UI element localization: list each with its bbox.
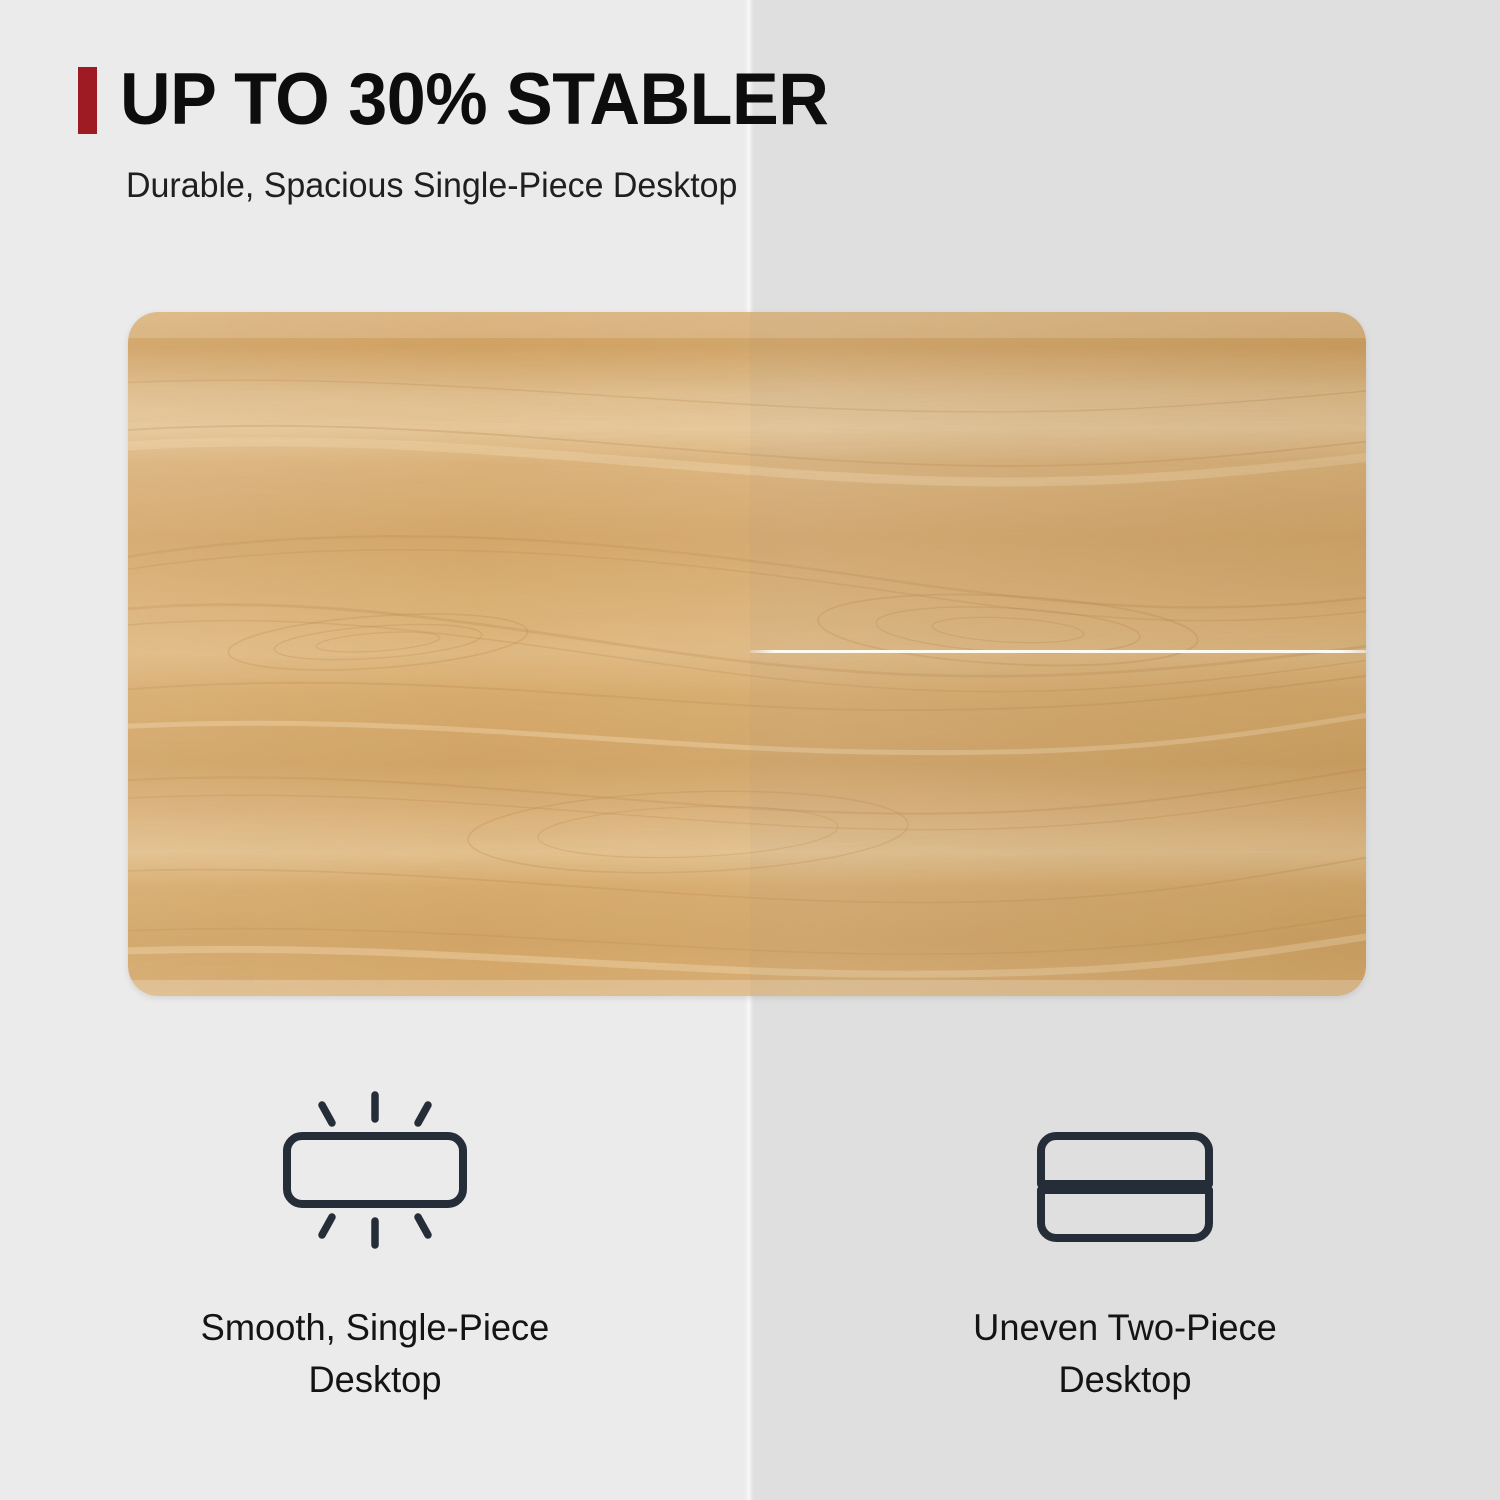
caption-line-2: Desktop: [8, 1354, 743, 1406]
promo-banner: UP TO 30% STABLER Durable, Spacious Sing…: [0, 0, 1500, 1500]
comparison-caption-two-piece: Uneven Two-Piece Desktop: [758, 1302, 1493, 1406]
wood-desktop-photo: [128, 312, 1366, 996]
comparison-item-single-piece: Smooth, Single-Piece Desktop: [0, 1040, 750, 1460]
accent-bar: [78, 67, 97, 134]
comparison-item-two-piece: Uneven Two-Piece Desktop: [750, 1040, 1500, 1460]
caption-line-1: Uneven Two-Piece: [973, 1307, 1277, 1348]
comparison-row: Smooth, Single-Piece Desktop Uneven Two-…: [0, 1040, 1500, 1460]
comparison-caption-single-piece: Smooth, Single-Piece Desktop: [8, 1302, 743, 1406]
page-title: UP TO 30% STABLER: [120, 58, 828, 142]
caption-line-2: Desktop: [758, 1354, 1493, 1406]
board-seam-line: [750, 650, 1366, 653]
wood-grain-illustration: [128, 312, 1366, 996]
single-piece-desktop-icon: [0, 1040, 750, 1290]
two-piece-desktop-icon: [750, 1040, 1500, 1290]
page-subtitle: Durable, Spacious Single-Piece Desktop: [126, 163, 737, 209]
caption-line-1: Smooth, Single-Piece: [201, 1307, 550, 1348]
